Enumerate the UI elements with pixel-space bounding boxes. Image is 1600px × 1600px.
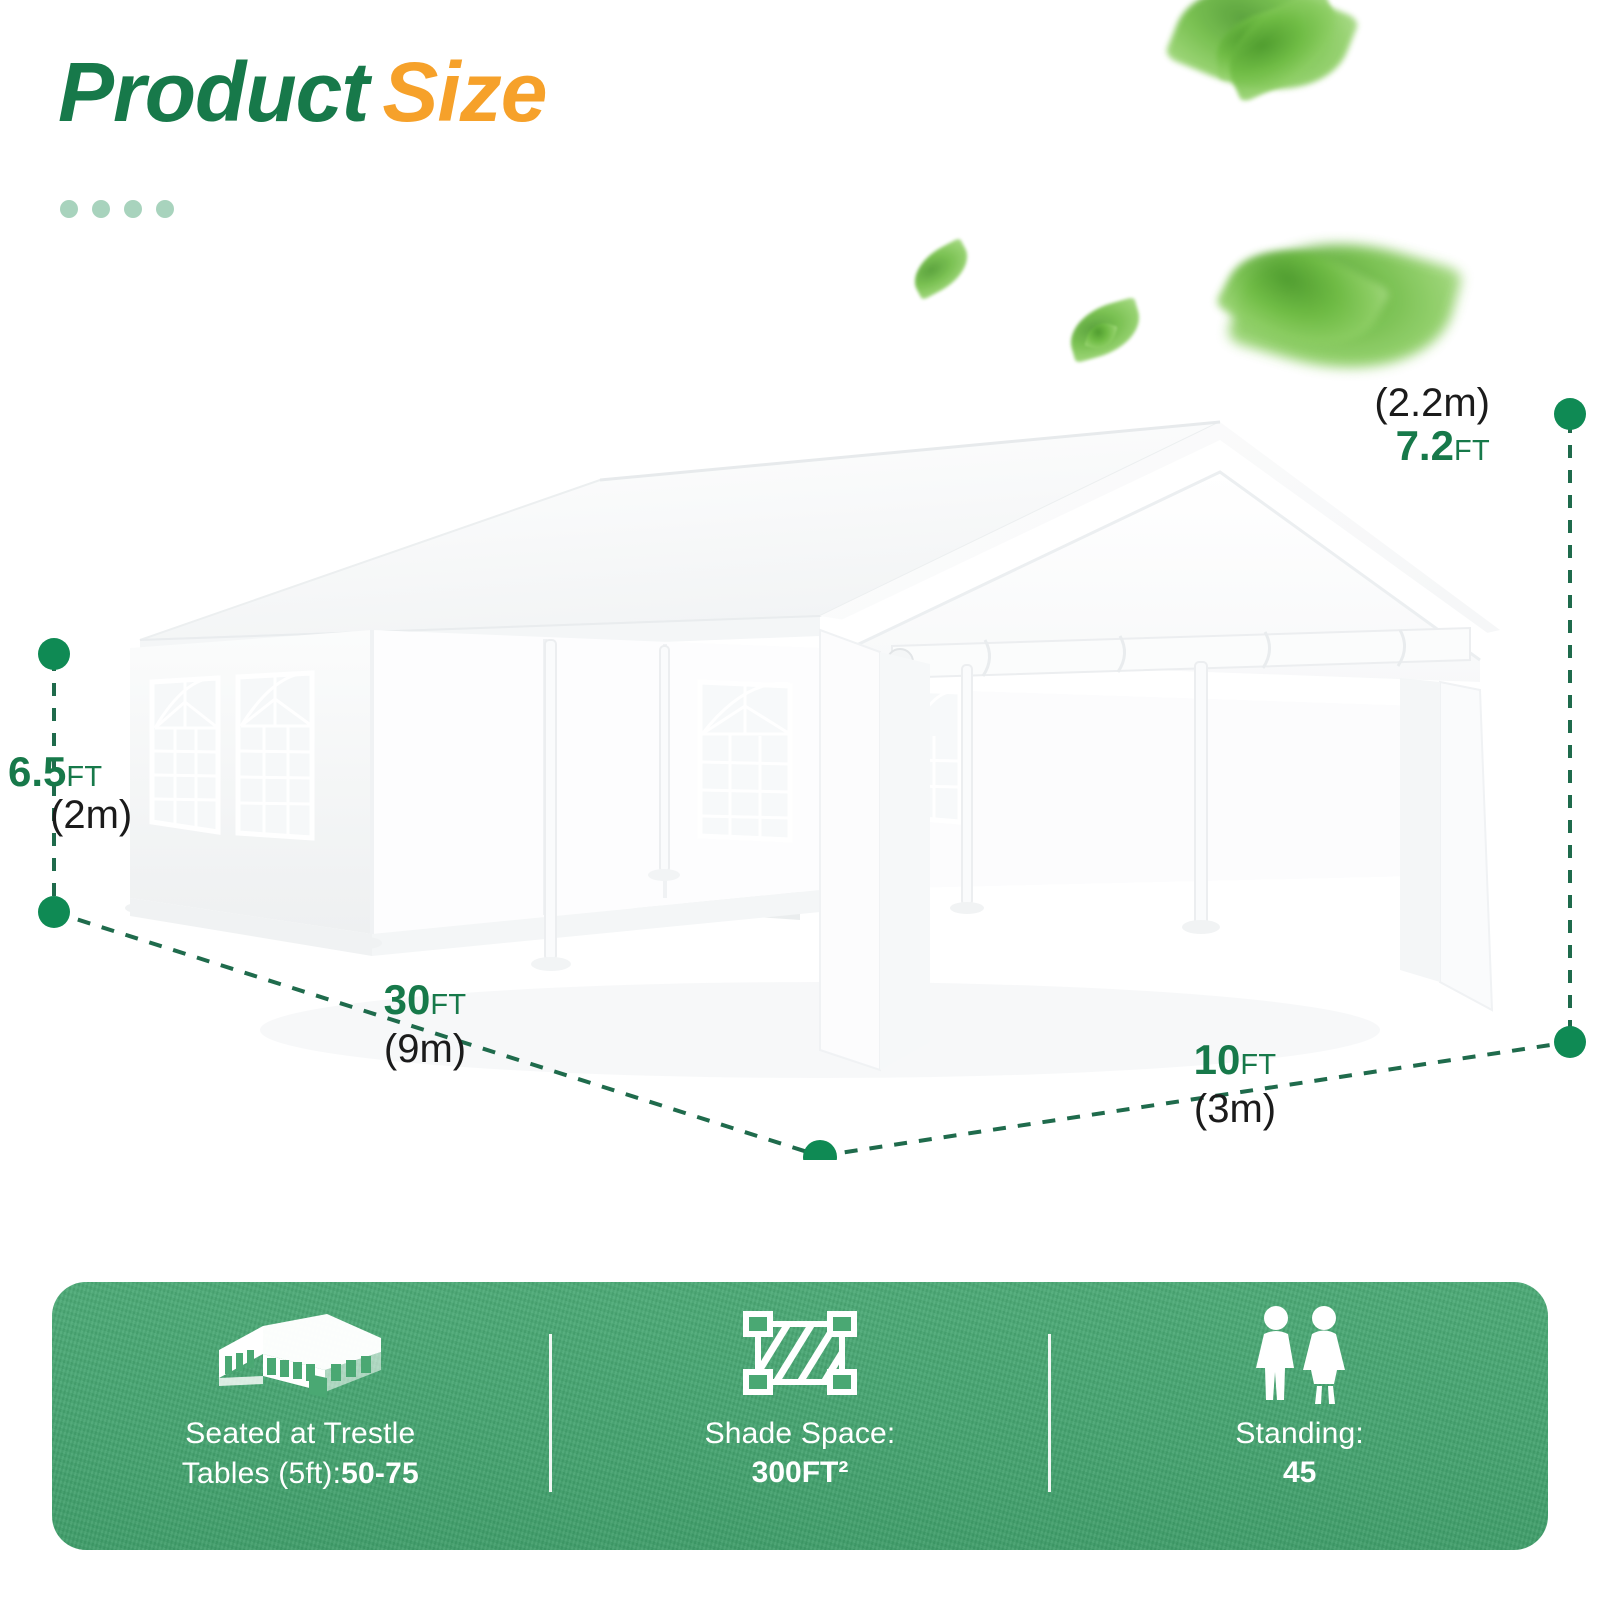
leaf-center-tiny bbox=[905, 238, 978, 301]
dot-3 bbox=[124, 200, 142, 218]
capacity-item-standing: Standing: 45 bbox=[1051, 1282, 1548, 1550]
width-metric: (3m) bbox=[1110, 1088, 1360, 1130]
dot-2 bbox=[92, 200, 110, 218]
length-metric: (9m) bbox=[300, 1028, 550, 1070]
infographic-canvas: ProductSize bbox=[0, 0, 1600, 1600]
dot-1 bbox=[60, 200, 78, 218]
capacity-shade-line1: Shade Space: bbox=[705, 1417, 896, 1450]
capacity-panel: Seated at Trestle Tables (5ft):50-75 bbox=[52, 1282, 1548, 1550]
capacity-standing-caption: Standing: bbox=[1235, 1414, 1364, 1454]
height-side-feet: 6.5FT bbox=[8, 750, 188, 794]
decorative-dots bbox=[60, 200, 174, 218]
dimension-label-length: 30FT (9m) bbox=[300, 978, 550, 1070]
dimension-label-width: 10FT (3m) bbox=[1110, 1038, 1360, 1130]
capacity-seated-value: 50-75 bbox=[341, 1457, 419, 1490]
capacity-seated-caption: Seated at Trestle Tables (5ft):50-75 bbox=[182, 1414, 419, 1493]
width-feet-value: 10 bbox=[1194, 1036, 1241, 1083]
capacity-standing-line1: Standing: bbox=[1235, 1417, 1364, 1450]
capacity-item-seated: Seated at Trestle Tables (5ft):50-75 bbox=[52, 1282, 549, 1550]
length-feet-unit: FT bbox=[430, 989, 466, 1021]
capacity-shade-value: 300FT² bbox=[752, 1456, 849, 1490]
length-feet: 30FT bbox=[300, 978, 550, 1022]
height-side-metric: (2m) bbox=[50, 794, 188, 836]
capacity-item-shade: Shade Space: 300FT² bbox=[552, 1282, 1049, 1550]
height-front-feet-value: 7.2 bbox=[1396, 422, 1454, 469]
width-feet: 10FT bbox=[1110, 1038, 1360, 1082]
dot-4 bbox=[156, 200, 174, 218]
capacity-seated-line1: Seated at Trestle bbox=[185, 1417, 415, 1450]
shade-area-icon bbox=[732, 1308, 868, 1400]
page-title-word-size: Size bbox=[382, 45, 546, 139]
page-title: ProductSize bbox=[58, 48, 546, 136]
length-feet-value: 30 bbox=[384, 976, 431, 1023]
page-title-word-product: Product bbox=[58, 45, 368, 139]
marquee-tent-icon bbox=[205, 1308, 395, 1400]
height-side-feet-unit: FT bbox=[66, 761, 102, 793]
capacity-seated-line2-label: Tables (5ft): bbox=[182, 1457, 341, 1490]
height-front-feet: 7.2FT bbox=[1120, 424, 1490, 468]
standing-people-icon bbox=[1240, 1308, 1360, 1400]
capacity-shade-caption: Shade Space: bbox=[705, 1414, 896, 1454]
capacity-standing-value: 45 bbox=[1283, 1456, 1316, 1490]
dimension-label-height-front: (2.2m) 7.2FT bbox=[1120, 382, 1490, 468]
width-feet-unit: FT bbox=[1240, 1049, 1276, 1081]
dimension-label-height-side: 6.5FT (2m) bbox=[8, 750, 188, 836]
height-side-feet-value: 6.5 bbox=[8, 748, 66, 795]
height-front-metric: (2.2m) bbox=[1120, 382, 1490, 424]
height-front-feet-unit: FT bbox=[1454, 435, 1490, 467]
